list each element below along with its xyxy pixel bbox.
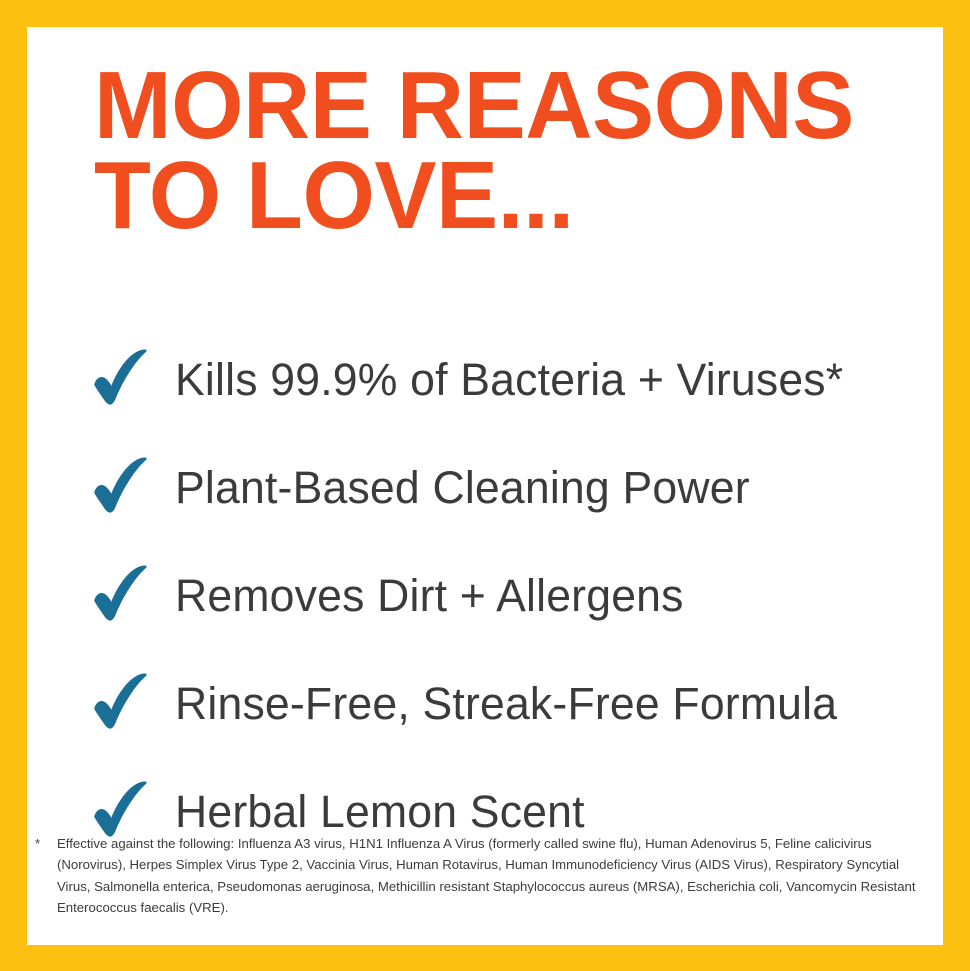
benefits-list: Kills 99.9% of Bacteria + Viruses* Plant…	[89, 326, 943, 866]
footnote-text: Effective against the following: Influen…	[57, 836, 916, 915]
poster-card: MORE REASONS TO LOVE... Kills 99.9% of B…	[0, 0, 970, 971]
poster-inner-panel: MORE REASONS TO LOVE... Kills 99.9% of B…	[27, 27, 943, 945]
list-item: Rinse-Free, Streak-Free Formula	[89, 650, 943, 758]
footnote-asterisk: *	[35, 833, 49, 854]
list-item: Kills 99.9% of Bacteria + Viruses*	[89, 326, 943, 434]
check-icon	[89, 664, 175, 744]
list-item-label: Herbal Lemon Scent	[175, 788, 941, 835]
footnote-body: * Effective against the following: Influ…	[35, 833, 925, 919]
check-icon	[89, 340, 175, 420]
check-icon	[89, 556, 175, 636]
list-item: Removes Dirt + Allergens	[89, 542, 943, 650]
list-item-label: Kills 99.9% of Bacteria + Viruses*	[175, 356, 941, 403]
footnote-disclaimer: * Effective against the following: Influ…	[35, 833, 925, 919]
page-title: MORE REASONS TO LOVE...	[94, 61, 899, 241]
list-item: Plant-Based Cleaning Power	[89, 434, 943, 542]
list-item-label: Plant-Based Cleaning Power	[175, 464, 941, 511]
list-item-label: Rinse-Free, Streak-Free Formula	[175, 680, 941, 727]
list-item-label: Removes Dirt + Allergens	[175, 572, 941, 619]
check-icon	[89, 448, 175, 528]
